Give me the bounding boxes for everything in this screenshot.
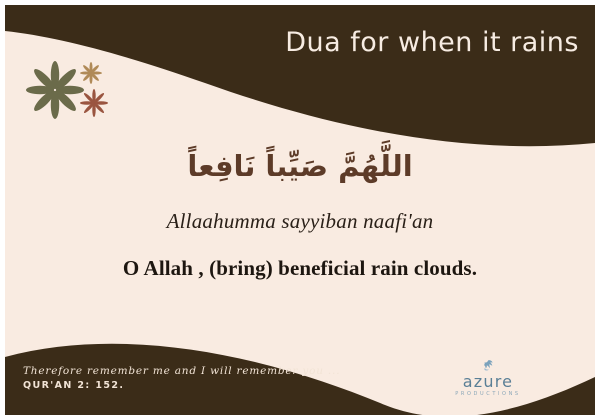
translation-text: O Allah , (bring) beneficial rain clouds… (5, 256, 595, 281)
transliteration-text: Allaahumma sayyiban naafi'an (5, 209, 595, 234)
dua-card: Dua for when it rains (0, 0, 600, 420)
arabic-dua-text: اللَّهُمَّ صَيِّباً نَافِعاً (5, 145, 595, 189)
quran-quote-text: Therefore remember me and I will remembe… (23, 365, 363, 377)
small-flower-rust-icon (80, 89, 108, 117)
brand-logo: azure PRODUCTIONS (433, 359, 543, 397)
quran-reference-text: QUR'AN 2: 152. (23, 380, 363, 391)
brand-tagline-text: PRODUCTIONS (433, 391, 543, 397)
dua-content: اللَّهُمَّ صَيِّباً نَافِعاً Allaahumma … (5, 145, 595, 281)
brand-name-text: azure (433, 374, 543, 390)
footer-quote-block: Therefore remember me and I will remembe… (23, 365, 363, 391)
card-inner-panel: Dua for when it rains (5, 5, 595, 415)
bird-icon (480, 359, 496, 373)
page-title: Dua for when it rains (285, 27, 579, 58)
flower-decoration-cluster (25, 58, 110, 120)
small-flower-gold-icon (80, 62, 102, 84)
large-flower-icon (26, 61, 84, 119)
